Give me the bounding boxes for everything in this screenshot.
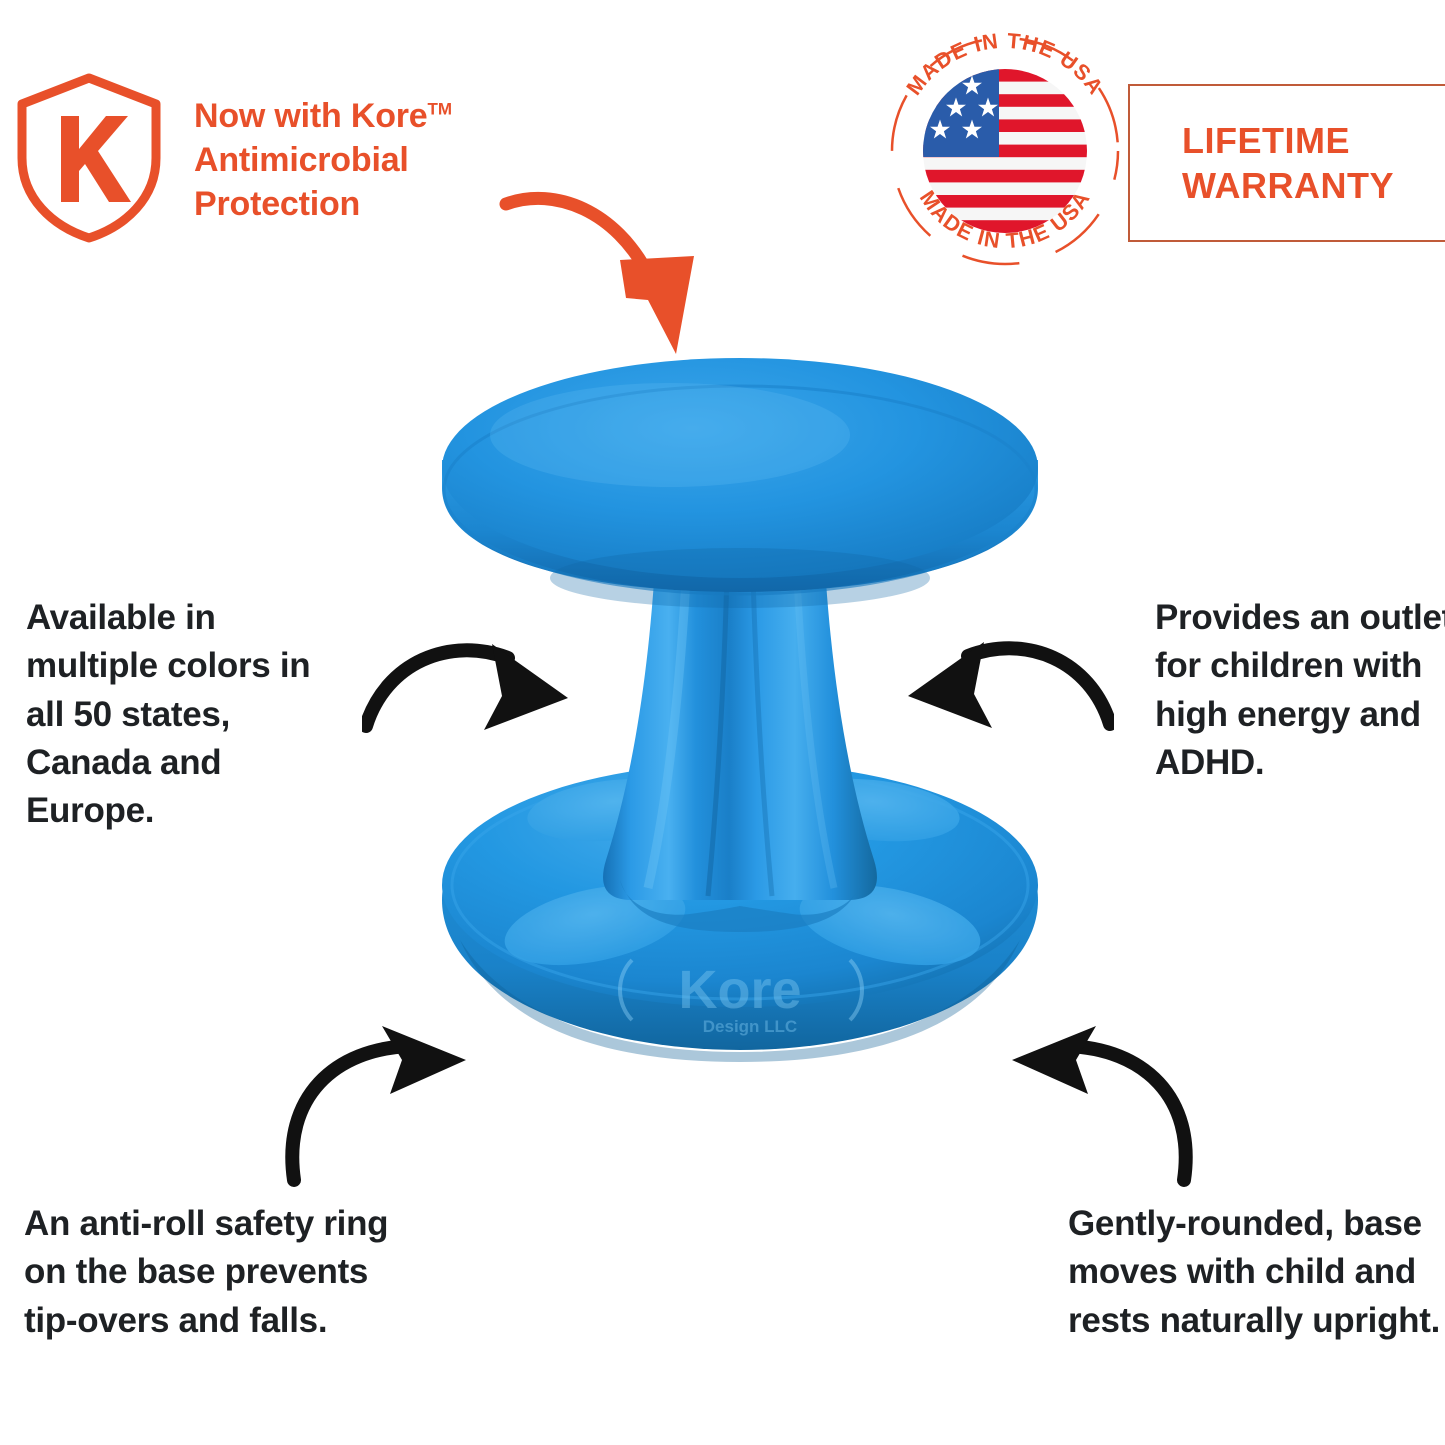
black-curved-arrow-left-icon [902, 618, 1114, 740]
product-infographic: Now with KoreTM Antimicrobial Protection [0, 0, 1445, 1445]
svg-text:Kore: Kore [678, 960, 801, 1020]
antimicrobial-line-3: Protection [194, 185, 360, 223]
chair-seat [442, 358, 1038, 608]
orange-curved-arrow-down-icon [498, 178, 738, 364]
callout-anti-roll-safety: An anti-roll safety ring on the base pre… [24, 1200, 424, 1345]
trademark-symbol: TM [428, 100, 453, 119]
callout-outlet-energy: Provides an outlet for children with hig… [1155, 594, 1445, 787]
antimicrobial-text-block: Now with KoreTM Antimicrobial Protection [194, 94, 494, 227]
black-curved-arrow-up-left-icon [990, 1012, 1206, 1188]
warranty-text-block: LIFETIME WARRANTY [1130, 118, 1394, 208]
lifetime-warranty-box: LIFETIME WARRANTY [1128, 84, 1445, 242]
warranty-line-1: LIFETIME [1182, 120, 1350, 161]
warranty-line-2: WARRANTY [1182, 165, 1394, 206]
svg-text:Design LLC: Design LLC [703, 1017, 797, 1036]
made-in-usa-seal-icon: MADE IN THE USA MADE IN THE USA [880, 26, 1130, 276]
antimicrobial-line-2: Antimicrobial [194, 141, 409, 179]
antimicrobial-badge: Now with KoreTM Antimicrobial Protection [14, 72, 484, 252]
callout-available-colors: Available in multiple colors in all 50 s… [26, 594, 356, 835]
callout-gently-rounded-base: Gently-rounded, base moves with child an… [1068, 1200, 1445, 1345]
shield-k-icon [14, 72, 164, 244]
black-curved-arrow-up-right-icon [272, 1012, 488, 1188]
antimicrobial-line-1: Now with Kore [194, 97, 428, 135]
black-curved-arrow-right-icon [362, 622, 574, 742]
